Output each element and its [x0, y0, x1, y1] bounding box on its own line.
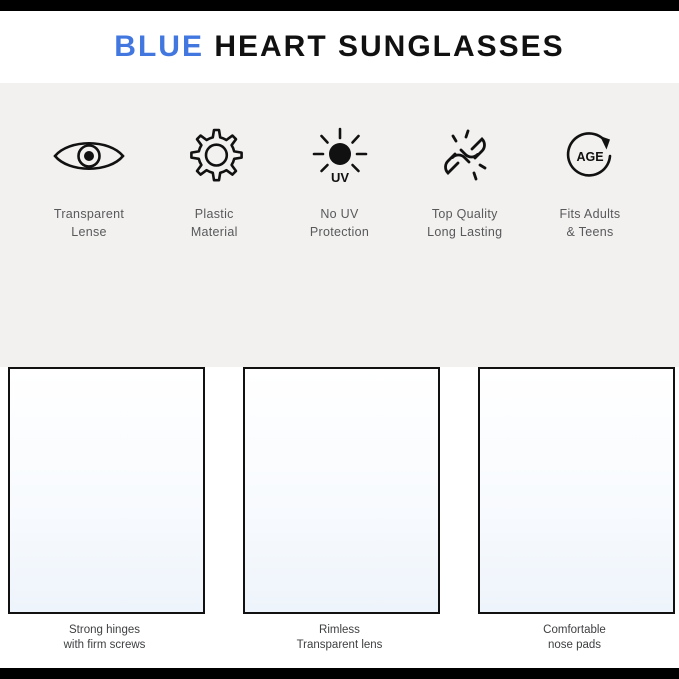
feature-top-quality: Top Quality Long Lasting — [406, 125, 524, 241]
photo-background — [480, 369, 673, 612]
sun-uv-icon-text: UV — [330, 170, 348, 185]
feature-label: Fits Adults & Teens — [560, 205, 621, 241]
broken-link-icon — [436, 125, 494, 187]
feature-band: Transparent Lense Plastic Material — [0, 83, 679, 367]
photo-block-hinge: Strong hinges with firm screws — [8, 367, 201, 653]
photo-frame — [243, 367, 440, 614]
photo-background — [10, 369, 203, 612]
photo-caption: Rimless Transparent lens — [243, 623, 436, 653]
bottom-black-bar — [0, 668, 679, 679]
photo-caption: Comfortable nose pads — [478, 623, 671, 653]
feature-row: Transparent Lense Plastic Material — [30, 125, 649, 241]
page-title: BLUE HEART SUNGLASSES — [114, 30, 564, 64]
photo-strip: Strong hinges with firm screws — [0, 367, 679, 668]
photo-block-nose-pads: Comfortable nose pads — [478, 367, 671, 653]
photo-frame — [478, 367, 675, 614]
photo-frame — [8, 367, 205, 614]
age-refresh-icon: AGE — [560, 125, 620, 187]
photo-caption: Strong hinges with firm screws — [8, 623, 201, 653]
gear-icon — [183, 125, 245, 187]
title-area: BLUE HEART SUNGLASSES — [0, 11, 679, 83]
product-infographic: BLUE HEART SUNGLASSES Transparent Lense — [0, 0, 679, 679]
top-black-bar — [0, 0, 679, 11]
title-highlight: BLUE — [114, 30, 204, 63]
feature-fits-adults-teens: AGE Fits Adults & Teens — [531, 125, 649, 241]
feature-label: No UV Protection — [310, 205, 369, 241]
photo-background — [245, 369, 438, 612]
feature-plastic-material: Plastic Material — [155, 125, 273, 241]
feature-label: Transparent Lense — [54, 205, 124, 241]
eye-icon — [51, 125, 127, 187]
feature-transparent-lense: Transparent Lense — [30, 125, 148, 241]
title-rest: HEART SUNGLASSES — [214, 30, 564, 63]
photo-block-rimless: Rimless Transparent lens — [243, 367, 436, 653]
feature-label: Top Quality Long Lasting — [427, 205, 502, 241]
age-refresh-icon-text: AGE — [576, 150, 603, 164]
feature-no-uv-protection: UV No UV Protection — [281, 125, 399, 241]
feature-label: Plastic Material — [191, 205, 238, 241]
sun-uv-icon: UV — [309, 125, 371, 187]
